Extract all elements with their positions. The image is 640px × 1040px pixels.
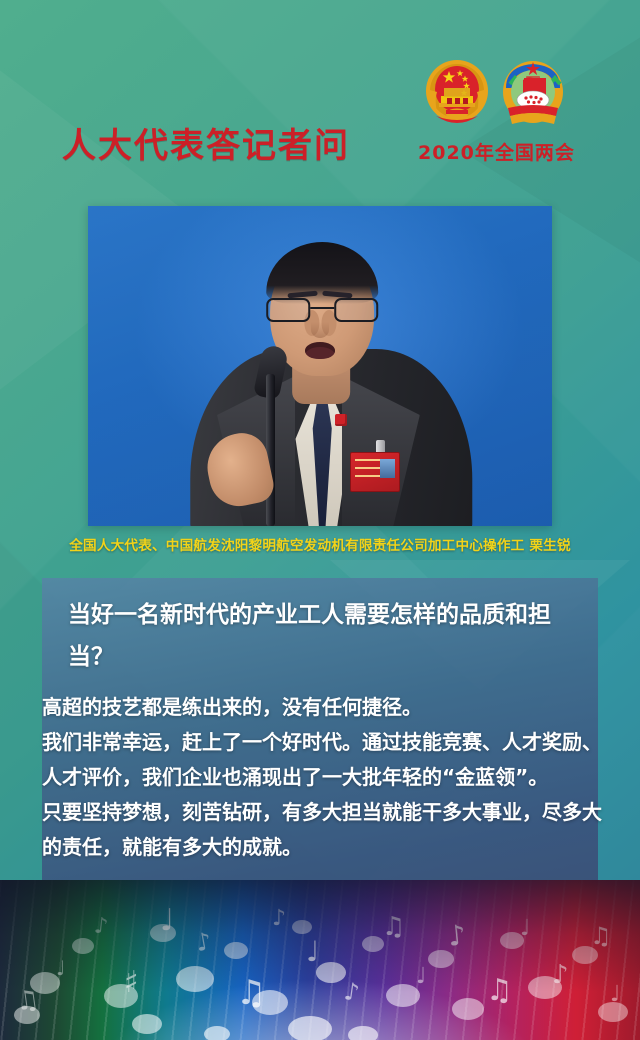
glasses-lens-left <box>266 298 310 322</box>
glasses-lens-right <box>334 298 378 322</box>
answer-paragraph: 只要坚持梦想，刻苦钻研，有多大担当就能干多大事业，尽多大的责任，就能有多大的成就… <box>42 795 602 865</box>
photo-microphone-stem <box>266 374 275 526</box>
music-band-shading <box>0 880 640 1040</box>
photo-nose <box>311 322 329 338</box>
photo-delegate-badge <box>350 452 400 492</box>
answer-paragraph: 高超的技艺都是练出来的，没有任何捷径。 <box>42 690 602 725</box>
badge-line-2 <box>355 467 383 469</box>
poster-header: 人大代表答记者问 <box>0 0 640 195</box>
photo-caption: 全国人大代表、中国航发沈阳黎明航空发动机有限责任公司加工中心操作工 栗生锐 <box>0 534 640 554</box>
subtitle-2020-two-sessions: 2020年全国两会 <box>418 138 575 165</box>
photo-eyeglasses <box>266 298 378 324</box>
badge-line-3 <box>355 475 383 477</box>
cppcc-emblem-icon <box>500 58 566 130</box>
photo-mouth <box>305 342 335 359</box>
answer-text: 高超的技艺都是练出来的，没有任何捷径。 我们非常幸运，赶上了一个好时代。通过技能… <box>42 690 602 865</box>
badge-line-1 <box>355 459 383 461</box>
music-notes-decoration: ♫ ♩ ♪ ♯ ♩ ♪ ♫ ♪ ♩ ♪ ♫ ♩ ♪ ♫ ♩ ♪ ♫ ♩ <box>0 880 640 1040</box>
question-text: 当好一名新时代的产业工人需要怎样的品质和担当？ <box>68 594 588 678</box>
speaker-photo <box>88 206 552 526</box>
glasses-bridge <box>310 307 334 309</box>
poster-root: 人大代表答记者问 <box>0 0 640 1040</box>
badge-photo <box>380 459 395 478</box>
national-emblem-of-china-icon <box>424 58 490 130</box>
photo-party-lapel-pin <box>335 414 347 426</box>
answer-paragraph: 我们非常幸运，赶上了一个好时代。通过技能竞赛、人才奖励、人才评价，我们企业也涌现… <box>42 725 602 795</box>
page-title: 人大代表答记者问 <box>62 118 350 167</box>
